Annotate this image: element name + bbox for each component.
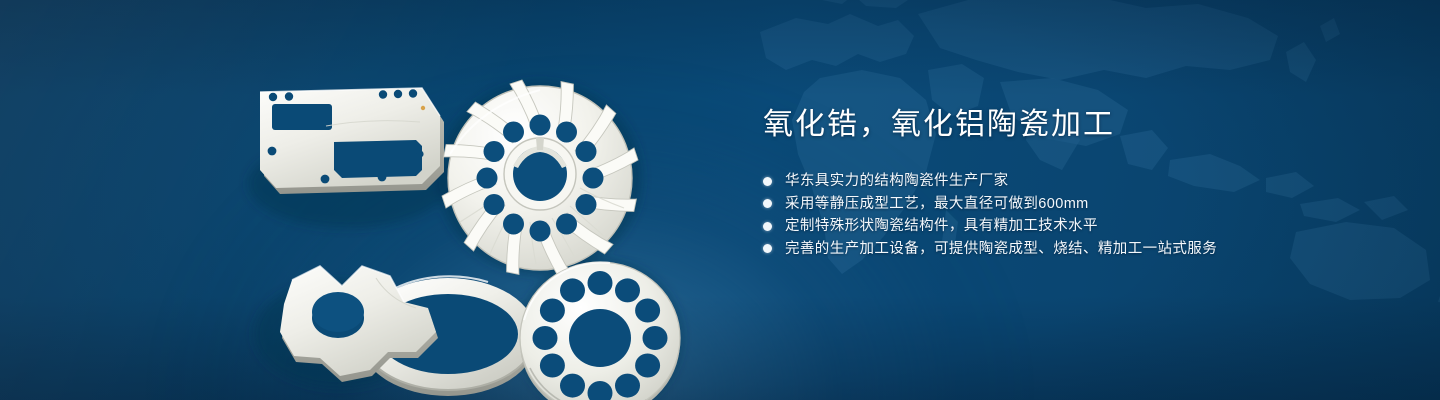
banner-copy: 氧化锆，氧化铝陶瓷加工 华东具实力的结构陶瓷件生产厂家 采用等静压成型工艺，最大… [763,104,1383,260]
bullet-item: 完善的生产加工设备，可提供陶瓷成型、烧结、精加工一站式服务 [763,238,1383,261]
bullet-text: 定制特殊形状陶瓷结构件，具有精加工技术水平 [785,215,1098,237]
bullet-text: 完善的生产加工设备，可提供陶瓷成型、烧结、精加工一站式服务 [785,238,1217,260]
bullet-item: 华东具实力的结构陶瓷件生产厂家 [763,170,1383,193]
banner-headline: 氧化锆，氧化铝陶瓷加工 [763,104,1383,146]
bullet-text: 华东具实力的结构陶瓷件生产厂家 [785,170,1009,192]
bullet-item: 采用等静压成型工艺，最大直径可做到600mm [763,193,1383,216]
banner-bullet-list: 华东具实力的结构陶瓷件生产厂家 采用等静压成型工艺，最大直径可做到600mm 定… [763,170,1383,260]
ceramic-plate-part [260,88,444,194]
bullet-item: 定制特殊形状陶瓷结构件，具有精加工技术水平 [763,215,1383,238]
bullet-dot-icon [763,199,772,208]
bullet-dot-icon [763,244,772,253]
ceramic-products-image [230,46,730,386]
ceramic-impeller-part [440,78,640,278]
hero-banner: 氧化锆，氧化铝陶瓷加工 华东具实力的结构陶瓷件生产厂家 采用等静压成型工艺，最大… [0,0,1440,400]
bullet-text: 采用等静压成型工艺，最大直径可做到600mm [785,193,1089,215]
bullet-dot-icon [763,222,772,231]
bullet-dot-icon [763,177,772,186]
